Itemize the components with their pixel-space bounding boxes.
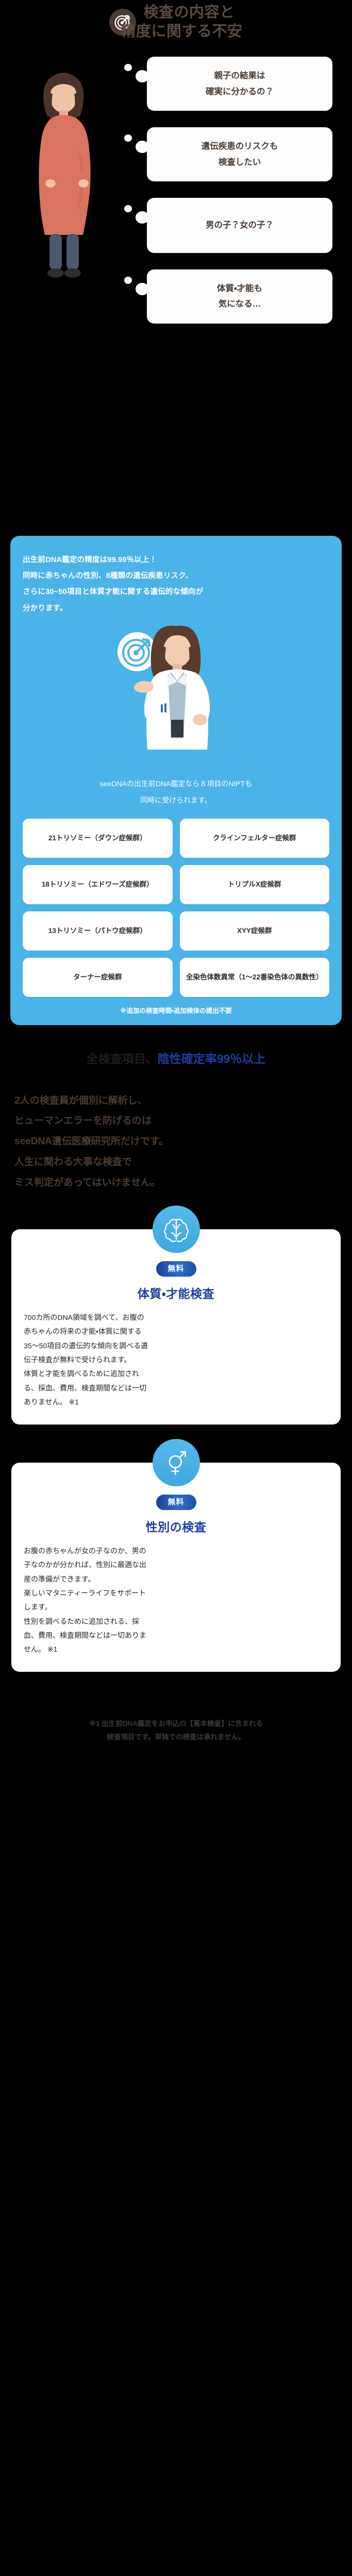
- feature-card-gender: 無料 性別の検査 お腹の赤ちゃんが女の子なのか、男の 子なのかが分かれば、性別に…: [11, 1463, 341, 1672]
- free-badge: 無料: [156, 1261, 196, 1277]
- card-body-line-3: 産の準備ができます。: [24, 1572, 328, 1586]
- card-title: 性別の検査: [24, 1517, 328, 1535]
- page-title: 検査の内容と 精度に関する不安: [0, 0, 352, 41]
- card-body-line-1: お腹の赤ちゃんが女の子なのか、男の: [24, 1544, 328, 1558]
- lead-line-3: さらに30~50項目と体質才能に関する遺伝的な傾向が: [23, 584, 329, 600]
- gender-icon: [153, 1439, 200, 1486]
- headline-plain: 全検査項目、: [87, 1052, 158, 1065]
- card-body-line-4: 楽しいマタニティーライフをサポート: [24, 1586, 328, 1600]
- statement-headline: 全検査項目、陰性確定率99％以上: [12, 1050, 340, 1068]
- brain-icon: [153, 1206, 200, 1253]
- condition-cell: 全染色体数異常（1〜22番染色体の異数性）: [180, 958, 330, 997]
- card-body-line-2: 赤ちゃんの将来の才能・体質に関する: [24, 1325, 328, 1338]
- pregnant-woman-illustration: [18, 62, 110, 283]
- card-title: 体質・才能検査: [24, 1284, 328, 1301]
- target-icon: [118, 632, 157, 671]
- card-body-line-2: 子なのかが分かれば、性別に最適な出: [24, 1558, 328, 1572]
- bubble-line-2: 検査したい: [152, 155, 327, 171]
- bubble-line-1: 男の子？女の子？: [152, 217, 327, 233]
- condition-cell: 21トリソミー（ダウン症候群）: [23, 819, 173, 858]
- accuracy-panel: 出生前DNA鑑定の精度は99.99％以上！ 同時に赤ちゃんの性別、8種類の遺伝疾…: [10, 536, 342, 1025]
- condition-cell: ターナー症候群: [23, 958, 173, 997]
- para-line-1: 2人の検査員が個別に解析し、: [14, 1091, 338, 1111]
- card-body-line-5: 体質と才能を調べるために追加され: [24, 1367, 328, 1381]
- card-body-line-8: せん。 ※1: [24, 1642, 328, 1656]
- concern-bubble: 親子の結果は 確実に分かるの？: [147, 57, 332, 111]
- bubble-line-1: 遺伝疾患のリスクも: [152, 139, 327, 155]
- condition-cell: 13トリソミー（パトウ症候群）: [23, 911, 173, 951]
- free-badge: 無料: [156, 1495, 196, 1510]
- bubble-line-2: 気になる…: [152, 296, 327, 312]
- bubble-line-1: 体質・才能も: [152, 281, 327, 297]
- doctor-illustration: [23, 619, 329, 773]
- page-title-line2: 精度に関する不安: [121, 22, 242, 41]
- card-body-line-6: る、採血、費用、検査期間などは一切: [24, 1381, 328, 1395]
- headline-accent: 陰性確定率99％以上: [158, 1052, 266, 1065]
- statement-section: 全検査項目、陰性確定率99％以上: [0, 1025, 352, 1073]
- bubble-line-2: 確実に分かるの？: [152, 84, 327, 100]
- card-body-line-4: 伝子検査が無料で受けられます。: [24, 1353, 328, 1367]
- footer-note-line-2: 検査項目です。単独での検査は承れません。: [10, 1731, 342, 1744]
- para-line-3: seeDNA遺伝医療研究所だけです。: [14, 1131, 338, 1152]
- condition-grid: 21トリソミー（ダウン症候群） クラインフェルター症候群 18トリソミー（エドワ…: [23, 819, 329, 997]
- lead-line-2: 同時に赤ちゃんの性別、8種類の遺伝疾患リスク、: [23, 568, 329, 584]
- feature-card-section: 無料 体質・才能検査 700カ所のDNA領域を調べて、お腹の 赤ちゃんの将来の才…: [0, 1193, 352, 1672]
- para-line-4: 人生に関わる大事な検査で: [14, 1152, 338, 1173]
- footer-note: ※1 出生前DNA鑑定をお申込の【基本検査】に含まれる 検査項目です。単独での検…: [0, 1710, 352, 1764]
- concern-bubble: 男の子？女の子？: [147, 198, 332, 253]
- card-body-line-5: します。: [24, 1600, 328, 1614]
- lead-line-1: 出生前DNA鑑定の精度は99.99％以上！: [23, 552, 329, 568]
- statement-paragraph: 2人の検査員が個別に解析し、 ヒューマンエラーを防げるのは seeDNA遺伝医療…: [0, 1073, 352, 1193]
- nipt-subtext: seeDNAの出生前DNA鑑定なら８項目のNIPTも 同時に受けられます。: [23, 775, 329, 808]
- card-body-line-1: 700カ所のDNA領域を調べて、お腹の: [24, 1311, 328, 1325]
- lead-line-4: 分かります。: [23, 601, 329, 617]
- sub-line-2: 同時に受けられます。: [23, 792, 329, 808]
- card-body: お腹の赤ちゃんが女の子なのか、男の 子なのかが分かれば、性別に最適な出 産の準備…: [24, 1544, 328, 1656]
- concern-bubble-list: 親子の結果は 確実に分かるの？ 遺伝疾患のリスクも 検査したい 男の子？女の子？…: [147, 57, 332, 340]
- feature-card-traits: 無料 体質・才能検査 700カ所のDNA領域を調べて、お腹の 赤ちゃんの将来の才…: [11, 1229, 341, 1425]
- concern-bubble: 遺伝疾患のリスクも 検査したい: [147, 127, 332, 181]
- card-body-line-7: 血、費用、検査期間などは一切ありま: [24, 1629, 328, 1642]
- hero-section: 検査の内容と 精度に関する不安: [0, 0, 352, 536]
- sub-line-1: seeDNAの出生前DNA鑑定なら８項目のNIPTも: [23, 775, 329, 792]
- accuracy-lead-text: 出生前DNA鑑定の精度は99.99％以上！ 同時に赤ちゃんの性別、8種類の遺伝疾…: [23, 552, 329, 617]
- footer-note-line-1: ※1 出生前DNA鑑定をお申込の【基本検査】に含まれる: [10, 1717, 342, 1731]
- bubble-line-1: 親子の結果は: [152, 68, 327, 84]
- para-line-2: ヒューマンエラーを防げるのは: [14, 1111, 338, 1131]
- page-title-line1: 検査の内容と: [143, 4, 234, 21]
- condition-footnote: ※追加の検査時間・追加検体の提出不要: [23, 1005, 329, 1015]
- condition-cell: トリプルX症候群: [180, 865, 330, 904]
- condition-cell: クラインフェルター症候群: [180, 819, 330, 858]
- card-body-line-3: 35〜50項目の遺伝的な傾向を調べる遺: [24, 1339, 328, 1353]
- concern-bubble: 体質・才能も 気になる…: [147, 269, 332, 324]
- card-body: 700カ所のDNA領域を調べて、お腹の 赤ちゃんの将来の才能・体質に関する 35…: [24, 1311, 328, 1409]
- condition-cell: 18トリソミー（エドワーズ症候群）: [23, 865, 173, 904]
- para-line-5: ミス判定があってはいけません。: [14, 1173, 338, 1193]
- card-body-line-7: ありません。 ※1: [24, 1395, 328, 1409]
- card-body-line-6: 性別を調べるために追加される、採: [24, 1615, 328, 1629]
- condition-cell: XYY症候群: [180, 911, 330, 951]
